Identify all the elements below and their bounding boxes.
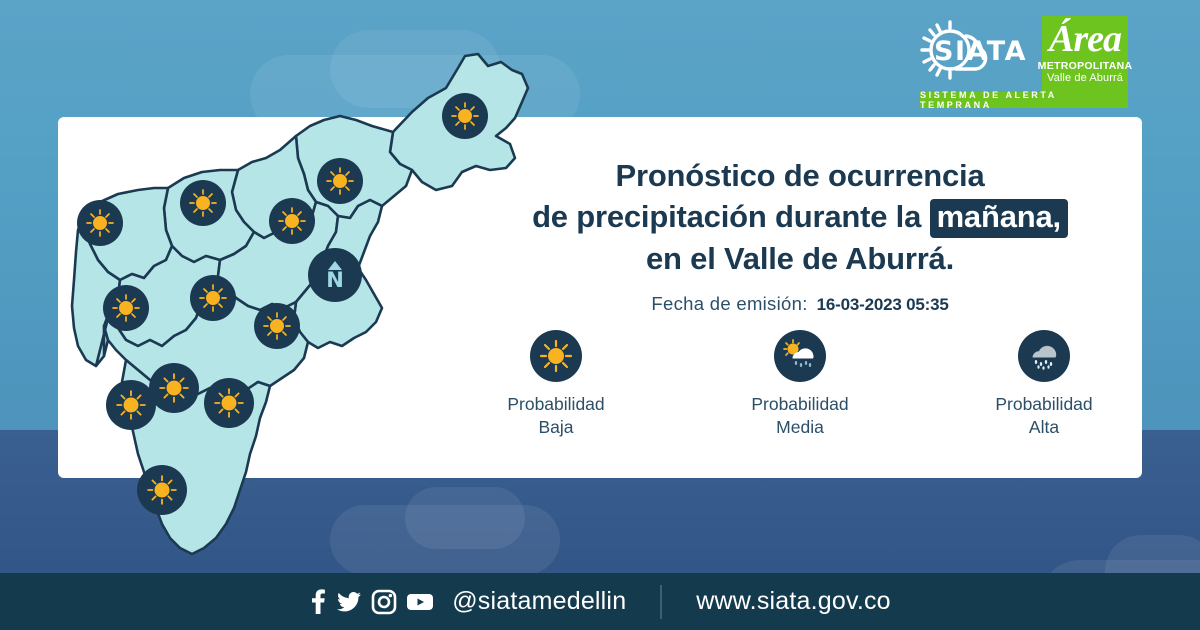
map-marker-sun [269, 198, 315, 244]
sun-icon [450, 101, 480, 131]
sun-icon [188, 188, 218, 218]
sun-icon [213, 387, 245, 419]
sun-cloud-rain-icon [782, 338, 818, 374]
website-url[interactable]: www.siata.gov.co [696, 587, 890, 616]
legend-item-media: Probabilidad Media [730, 330, 870, 439]
legend-icon-wrapper [530, 330, 582, 382]
map-marker-sun [106, 380, 156, 430]
siata-logo: SIATA [908, 16, 1028, 86]
map-marker-sun [204, 378, 254, 428]
social-icon-group [309, 589, 434, 615]
issue-date-value: 16-03-2023 05:35 [817, 295, 949, 315]
title-highlight-manana: mañana, [930, 199, 1068, 238]
issue-date: Fecha de emisión: 16-03-2023 05:35 [470, 293, 1130, 315]
sun-icon [262, 311, 292, 341]
compass-north-icon: N [308, 248, 362, 302]
forecast-text-block: Pronóstico de ocurrencia de precipitació… [470, 155, 1130, 315]
map-marker-sun [317, 158, 363, 204]
sun-icon [85, 208, 115, 238]
sun-icon [325, 166, 355, 196]
legend-label-baja: Probabilidad Baja [507, 393, 604, 439]
cloud-rain-icon [1026, 338, 1062, 374]
map-marker-sun [254, 303, 300, 349]
title-line-1: Pronóstico de ocurrencia [470, 155, 1130, 196]
youtube-icon[interactable] [406, 589, 434, 615]
legend-label-line1: Probabilidad [507, 393, 604, 416]
sun-icon [539, 339, 573, 373]
legend-icon-wrapper [1018, 330, 1070, 382]
title-line-3: en el Valle de Aburrá. [470, 238, 1130, 279]
infographic-root: SIATA Área METROPOLITANA Valle de Aburrá… [0, 0, 1200, 630]
footer-content: @siatamedellin www.siata.gov.co [309, 585, 891, 619]
sun-icon [146, 474, 178, 506]
probability-legend: Probabilidad Baja [470, 330, 1130, 439]
legend-label-line2: Media [751, 416, 848, 439]
issue-date-label: Fecha de emisión: [651, 293, 807, 315]
map-marker-sun [103, 285, 149, 331]
logo-group: SIATA Área METROPOLITANA Valle de Aburrá [908, 16, 1128, 100]
sun-icon [198, 283, 228, 313]
footer-bar: @siatamedellin www.siata.gov.co [0, 573, 1200, 630]
sun-icon [158, 372, 190, 404]
legend-item-baja: Probabilidad Baja [486, 330, 626, 439]
tagline-text: SISTEMA DE ALERTA TEMPRANA [920, 90, 1128, 110]
area-metropolitana-logo: Área METROPOLITANA Valle de Aburrá [1042, 16, 1128, 100]
legend-label-alta: Probabilidad Alta [995, 393, 1092, 439]
footer-divider [660, 585, 662, 619]
twitter-icon[interactable] [336, 589, 362, 615]
legend-icon-wrapper [774, 330, 826, 382]
facebook-icon[interactable] [309, 589, 327, 615]
valle-de-aburra-map: N [60, 40, 530, 570]
instagram-icon[interactable] [371, 589, 397, 615]
legend-item-alta: Probabilidad Alta [974, 330, 1114, 439]
map-marker-sun [137, 465, 187, 515]
social-handle[interactable]: @siatamedellin [452, 587, 626, 616]
page-title: Pronóstico de ocurrencia de precipitació… [470, 155, 1130, 279]
siata-wordmark: SIATA [934, 36, 1027, 67]
sun-icon [115, 389, 147, 421]
title-line-2: de precipitación durante la mañana, [470, 196, 1130, 238]
map-marker-sun [442, 93, 488, 139]
title-line-2-pre: de precipitación durante la [532, 199, 921, 234]
map-marker-sun [190, 275, 236, 321]
map-marker-sun [77, 200, 123, 246]
map-marker-sun [180, 180, 226, 226]
legend-label-line1: Probabilidad [995, 393, 1092, 416]
tagline-strip: SISTEMA DE ALERTA TEMPRANA [920, 92, 1128, 108]
area-logo-line1: METROPOLITANA [1038, 60, 1133, 72]
legend-label-line2: Alta [995, 416, 1092, 439]
area-logo-line2: Valle de Aburrá [1047, 72, 1123, 84]
sun-icon [277, 206, 307, 236]
map-marker-sun [149, 363, 199, 413]
compass-label: N [326, 271, 344, 290]
sun-icon [111, 293, 141, 323]
legend-label-line1: Probabilidad [751, 393, 848, 416]
legend-label-media: Probabilidad Media [751, 393, 848, 439]
area-script-text: Área [1049, 20, 1121, 58]
legend-label-line2: Baja [507, 416, 604, 439]
